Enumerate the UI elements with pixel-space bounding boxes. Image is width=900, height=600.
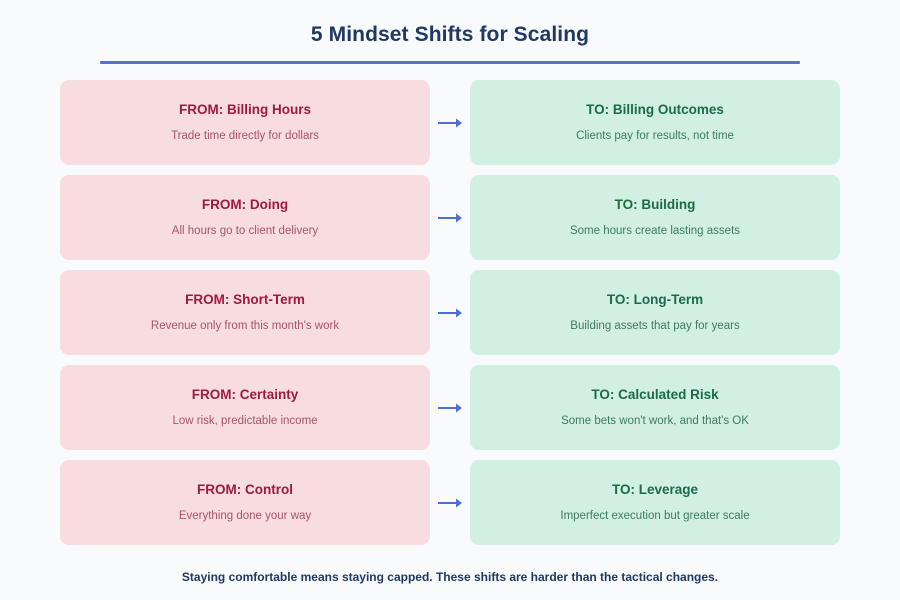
to-card-subtitle: Building assets that pay for years [570,319,739,333]
to-card: TO: Leverage Imperfect execution but gre… [470,460,840,545]
from-card: FROM: Short-Term Revenue only from this … [60,270,430,355]
to-card-heading: TO: Long-Term [607,292,703,309]
from-card-subtitle: Low risk, predictable income [172,414,317,428]
to-card: TO: Calculated Risk Some bets won't work… [470,365,840,450]
from-card-heading: FROM: Billing Hours [179,102,311,119]
from-card-heading: FROM: Control [197,482,293,499]
footer: Staying comfortable means staying capped… [0,570,900,586]
from-card-heading: FROM: Certainty [192,387,299,404]
to-card-heading: TO: Leverage [612,482,698,499]
arrow-right-icon [437,401,463,415]
from-card: FROM: Certainty Low risk, predictable in… [60,365,430,450]
arrow-right-icon [437,496,463,510]
from-card-subtitle: Revenue only from this month's work [151,319,339,333]
title-underline-rule [100,61,800,64]
from-card-subtitle: All hours go to client delivery [172,224,318,238]
to-card: TO: Building Some hours create lasting a… [470,175,840,260]
shift-row: FROM: Doing All hours go to client deliv… [60,175,840,260]
arrow-cell [430,365,470,450]
title-block: 5 Mindset Shifts for Scaling [0,0,900,64]
to-card-subtitle: Imperfect execution but greater scale [560,509,749,523]
to-card: TO: Billing Outcomes Clients pay for res… [470,80,840,165]
page-title: 5 Mindset Shifts for Scaling [0,22,900,47]
from-card-heading: FROM: Short-Term [185,292,305,309]
from-card: FROM: Control Everything done your way [60,460,430,545]
to-card-subtitle: Clients pay for results, not time [576,129,734,143]
infographic-page: 5 Mindset Shifts for Scaling FROM: Billi… [0,0,900,600]
to-card-heading: TO: Billing Outcomes [586,102,724,119]
arrow-cell [430,175,470,260]
shift-row: FROM: Control Everything done your way T… [60,460,840,545]
from-card: FROM: Billing Hours Trade time directly … [60,80,430,165]
from-card-subtitle: Trade time directly for dollars [171,129,319,143]
shift-row: FROM: Certainty Low risk, predictable in… [60,365,840,450]
arrow-cell [430,460,470,545]
shift-rows-container: FROM: Billing Hours Trade time directly … [0,80,900,545]
arrow-cell [430,80,470,165]
from-card: FROM: Doing All hours go to client deliv… [60,175,430,260]
arrow-right-icon [437,116,463,130]
to-card-subtitle: Some hours create lasting assets [570,224,740,238]
to-card-heading: TO: Building [615,197,696,214]
arrow-right-icon [437,211,463,225]
from-card-subtitle: Everything done your way [179,509,311,523]
to-card-subtitle: Some bets won't work, and that's OK [561,414,749,428]
from-card-heading: FROM: Doing [202,197,288,214]
to-card: TO: Long-Term Building assets that pay f… [470,270,840,355]
shift-row: FROM: Billing Hours Trade time directly … [60,80,840,165]
shift-row: FROM: Short-Term Revenue only from this … [60,270,840,355]
arrow-cell [430,270,470,355]
footer-note: Staying comfortable means staying capped… [0,570,900,586]
to-card-heading: TO: Calculated Risk [591,387,718,404]
arrow-right-icon [437,306,463,320]
